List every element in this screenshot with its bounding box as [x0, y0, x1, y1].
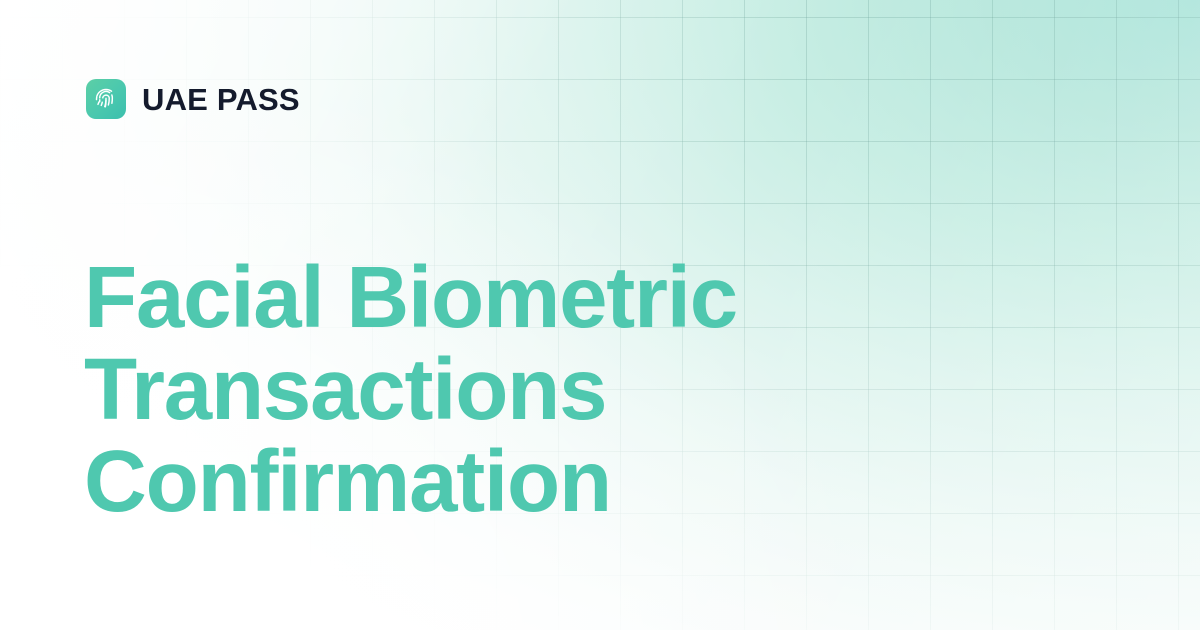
page-title: Facial Biometric Transactions Confirmati…: [84, 252, 737, 528]
page-title-line-3: Confirmation: [84, 436, 737, 528]
share-banner: UAE PASS Facial Biometric Transactions C…: [0, 0, 1200, 630]
page-title-line-1: Facial Biometric: [84, 252, 737, 344]
page-title-line-2: Transactions: [84, 344, 737, 436]
brand-lockup: UAE PASS: [86, 79, 300, 119]
fingerprint-icon: [86, 79, 126, 119]
brand-name: UAE PASS: [142, 84, 300, 115]
banner-content: UAE PASS Facial Biometric Transactions C…: [0, 0, 1200, 630]
